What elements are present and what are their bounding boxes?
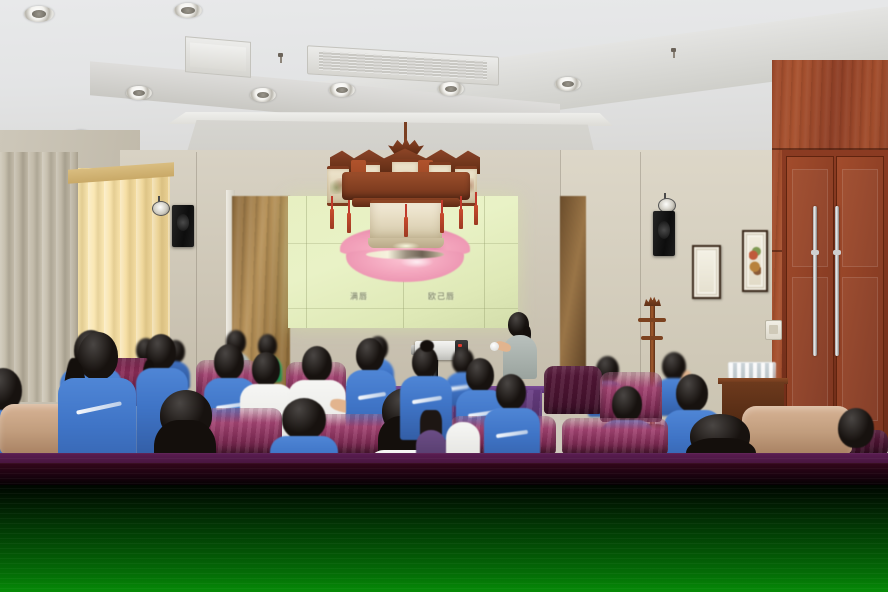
projector-indicator-led [458, 344, 462, 347]
screen-caption-left: 满唇 [350, 291, 368, 302]
chandelier-bulb-glow [392, 242, 420, 250]
artifact-band-purple [0, 453, 888, 463]
downlight [438, 82, 464, 96]
artwork [699, 252, 714, 292]
door-handle-right[interactable] [835, 206, 839, 356]
wooden-double-door[interactable] [782, 150, 888, 440]
framed-flower-painting [742, 230, 768, 292]
door-panel [842, 169, 878, 267]
downlight [250, 88, 276, 102]
framed-calligraphy [692, 245, 721, 299]
sprinkler-head-right [670, 48, 677, 58]
curtain-shaded [0, 152, 78, 402]
chair-upholstered[interactable] [742, 406, 852, 453]
speaker-cone [177, 214, 189, 231]
coat-rack-arm [641, 336, 663, 340]
ceiling-vent-panel [185, 36, 251, 78]
wall-speaker-right [653, 211, 675, 256]
door-panel [792, 169, 828, 267]
downlight [24, 6, 54, 22]
vent-face [190, 42, 246, 71]
downlight [329, 83, 355, 97]
bun [420, 340, 434, 352]
diffuser-slats [319, 51, 486, 80]
wall-speaker-left [172, 205, 194, 247]
screen-caption-right: 欧己唇 [428, 291, 455, 302]
door-panel [792, 277, 828, 421]
screen-seam [288, 308, 518, 309]
door-panel [842, 277, 878, 421]
speaker-cone [658, 221, 670, 239]
door-leaf-right[interactable] [836, 156, 884, 436]
held-object [490, 342, 499, 351]
coat-rack-arm [638, 318, 666, 322]
screenshot-root: 满唇 欧己唇 [0, 0, 888, 592]
presenter-top [503, 335, 537, 379]
chandelier-ring-upper [342, 172, 470, 200]
downlight [555, 77, 581, 91]
downlight [174, 3, 202, 18]
downlight [126, 86, 152, 100]
hair-long [154, 420, 216, 453]
uniform-top [58, 378, 136, 453]
side-doorway-right [560, 196, 586, 371]
artwork [749, 237, 761, 285]
door-handle-left[interactable] [813, 206, 817, 356]
chair[interactable] [544, 366, 602, 414]
photograph: 满唇 欧己唇 [0, 0, 888, 453]
sprinkler-head-left [277, 53, 284, 63]
spotlight-left [152, 201, 170, 216]
artifact-band-maroon [0, 463, 888, 485]
door-leaf-left[interactable] [786, 156, 834, 436]
chair[interactable] [562, 418, 668, 453]
lip-highlight [400, 256, 434, 268]
wall-seam [640, 152, 641, 402]
light-switch[interactable] [765, 320, 782, 340]
artifact-band-green [0, 485, 888, 592]
image-truncation-artifact [0, 453, 888, 592]
